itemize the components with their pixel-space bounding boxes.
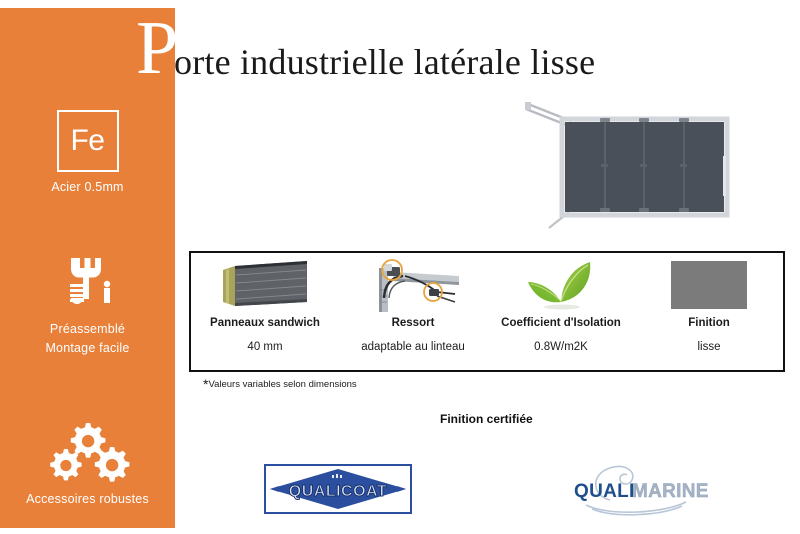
feature-finition: Finition lisse xyxy=(635,253,783,370)
feature-panneaux-sandwich: Panneaux sandwich 40 mm xyxy=(191,253,339,370)
sandwich-panel-image xyxy=(213,257,317,313)
footnote-text: Valeurs variables selon dimensions xyxy=(208,379,356,390)
feature-value: lisse xyxy=(697,341,720,353)
finish-swatch-fill xyxy=(671,261,747,309)
qualimarine-wordmark-marine: MARINE xyxy=(632,481,709,502)
feature-title: Panneaux sandwich xyxy=(210,317,320,329)
wrench-screw-icon xyxy=(0,246,175,320)
qualimarine-logo[interactable]: QUALI MARINE xyxy=(556,458,716,520)
features-panel: Panneaux sandwich 40 mm xyxy=(189,251,785,372)
poster-page: Fe Acier 0.5mm xyxy=(0,0,800,534)
fe-box-outline: Fe xyxy=(57,110,119,172)
fe-element-box-icon: Fe xyxy=(0,104,175,178)
footnote: *Valeurs variables selon dimensions xyxy=(203,379,357,390)
qualicoat-logo[interactable]: QUALICOAT xyxy=(264,464,412,514)
finish-color-swatch xyxy=(671,257,747,313)
feature-value: adaptable au linteau xyxy=(361,341,465,353)
feature-value: 0.8W/m2K xyxy=(534,341,588,353)
spring-mechanism-image xyxy=(363,257,463,313)
green-leaves-icon xyxy=(524,257,598,313)
qualimarine-wordmark-quali: QUALI xyxy=(574,481,635,502)
feature-title: Finition xyxy=(688,317,730,329)
industrial-sliding-door-image xyxy=(497,96,747,236)
gears-icon xyxy=(0,416,175,490)
sidebar-item-preassemble-label-2: Montage facile xyxy=(0,339,175,358)
sidebar-item-accessoires-label: Accessoires robustes xyxy=(0,490,175,509)
qualicoat-wordmark: QUALICOAT xyxy=(289,483,387,500)
sidebar-item-preassemble-label-1: Préassemblé xyxy=(0,320,175,339)
feature-value: 40 mm xyxy=(247,341,282,353)
sidebar-item-preassemble: Préassemblé Montage facile xyxy=(0,246,175,358)
feature-title: Coefficient d'Isolation xyxy=(501,317,621,329)
feature-title: Ressort xyxy=(392,317,435,329)
page-title-initial: P xyxy=(136,10,178,86)
fe-symbol-label: Fe xyxy=(70,126,104,156)
page-title-rest: orte industrielle latérale lisse xyxy=(174,42,595,82)
certified-label: Finition certifiée xyxy=(440,412,533,426)
sidebar-item-acier: Fe Acier 0.5mm xyxy=(0,104,175,197)
sidebar-item-acier-label: Acier 0.5mm xyxy=(0,178,175,197)
feature-coefficient-isolation: Coefficient d'Isolation 0.8W/m2K xyxy=(487,253,635,370)
sidebar-item-accessoires: Accessoires robustes xyxy=(0,416,175,509)
feature-ressort: Ressort adaptable au linteau xyxy=(339,253,487,370)
